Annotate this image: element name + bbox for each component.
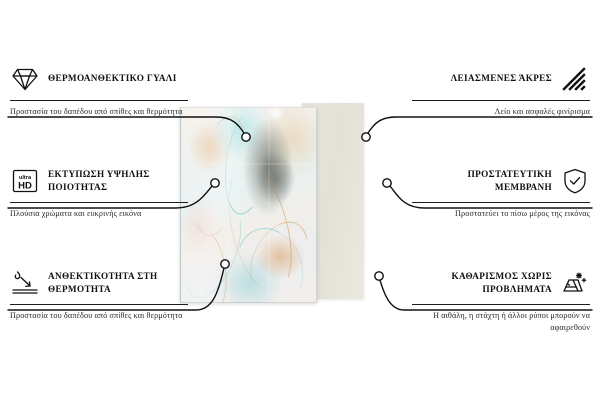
feature-title: ΛΕΙΑΣΜΕΝΕΣ ΆΚΡΕΣ	[412, 72, 552, 85]
feature-title: ΕΚΤΥΠΩΣΗ ΥΨΗΛΗΣ ΠΟΙΟΤΗΤΑΣ	[48, 168, 188, 195]
feature-divider	[412, 304, 590, 305]
feature-header: ΠΡΟΣΤΑΤΕΥΤΙΚΗ ΜΕΜΒΡΑΝΗ	[412, 164, 590, 198]
feature-description: Πλούσια χρώματα και ευκρινής εικόνα	[10, 208, 188, 220]
feature-divider	[412, 202, 590, 203]
svg-text:HD: HD	[18, 181, 32, 192]
feature-description: Προστασία του δαπέδου από σπίθες και θερ…	[10, 106, 188, 118]
feature-header: ΚΑΘΑΡΙΣΜΟΣ ΧΩΡΙΣ ΠΡΟΒΛΗΜΑΤΑ	[412, 266, 590, 300]
diamond-icon	[10, 64, 40, 94]
feature-high-quality-print: ultra HD ΕΚΤΥΠΩΣΗ ΥΨΗΛΗΣ ΠΟΙΟΤΗΤΑΣ Πλούσ…	[10, 164, 188, 220]
feature-polished-edges: ΛΕΙΑΣΜΕΝΕΣ ΆΚΡΕΣ Λείο και ασφαλές φινίρι…	[412, 62, 590, 118]
easy-clean-sponge-icon	[560, 268, 590, 298]
feature-divider	[10, 100, 188, 101]
feature-description: Προστασία του δαπέδου από σπίθες και θερ…	[10, 310, 188, 322]
polished-edges-icon	[560, 64, 590, 94]
shield-check-icon	[560, 166, 590, 196]
feature-title: ΑΝΘΕΚΤΙΚΟΤΗΤΑ ΣΤΗ ΘΕΡΜΟΤΗΤΑ	[48, 270, 188, 297]
feature-header: ΛΕΙΑΣΜΕΝΕΣ ΆΚΡΕΣ	[412, 62, 590, 96]
ultra-hd-badge-icon: ultra HD	[10, 166, 40, 196]
product-artwork	[180, 107, 317, 303]
feature-header: ΑΝΘΕΚΤΙΚΟΤΗΤΑ ΣΤΗ ΘΕΡΜΟΤΗΤΑ	[10, 266, 188, 300]
feature-divider	[10, 202, 188, 203]
feature-heat-resistance: ΑΝΘΕΚΤΙΚΟΤΗΤΑ ΣΤΗ ΘΕΡΜΟΤΗΤΑ Προστασία το…	[10, 266, 188, 322]
feature-title: ΘΕΡΜΟΑΝΘΕΚΤΙΚΟ ΓΥΑΛΙ	[48, 72, 188, 85]
product-image	[180, 105, 420, 305]
feature-description: Η αιθάλη, η στάχτη ή άλλοι ρύποι μπορούν…	[412, 310, 590, 335]
feature-title: ΠΡΟΣΤΑΤΕΥΤΙΚΗ ΜΕΜΒΡΑΝΗ	[412, 168, 552, 195]
heat-resistance-icon	[10, 268, 40, 298]
feature-header: ultra HD ΕΚΤΥΠΩΣΗ ΥΨΗΛΗΣ ΠΟΙΟΤΗΤΑΣ	[10, 164, 188, 198]
feature-header: ΘΕΡΜΟΑΝΘΕΚΤΙΚΟ ΓΥΑΛΙ	[10, 62, 188, 96]
infographic-stage: ΘΕΡΜΟΑΝΘΕΚΤΙΚΟ ΓΥΑΛΙ Προστασία του δαπέδ…	[0, 0, 600, 400]
feature-title: ΚΑΘΑΡΙΣΜΟΣ ΧΩΡΙΣ ΠΡΟΒΛΗΜΑΤΑ	[412, 270, 552, 297]
feature-easy-cleaning: ΚΑΘΑΡΙΣΜΟΣ ΧΩΡΙΣ ΠΡΟΒΛΗΜΑΤΑ Η αιθάλη, η …	[412, 266, 590, 335]
feature-protective-membrane: ΠΡΟΣΤΑΤΕΥΤΙΚΗ ΜΕΜΒΡΑΝΗ Προστατεύει το πί…	[412, 164, 590, 220]
feature-divider	[10, 304, 188, 305]
product-glass-panel	[180, 107, 317, 303]
feature-heat-resistant-glass: ΘΕΡΜΟΑΝΘΕΚΤΙΚΟ ΓΥΑΛΙ Προστασία του δαπέδ…	[10, 62, 188, 118]
feature-description: Προστατεύει το πίσω μέρος της εικόνας	[412, 208, 590, 220]
feature-description: Λείο και ασφαλές φινίρισμα	[412, 106, 590, 118]
feature-divider	[412, 100, 590, 101]
